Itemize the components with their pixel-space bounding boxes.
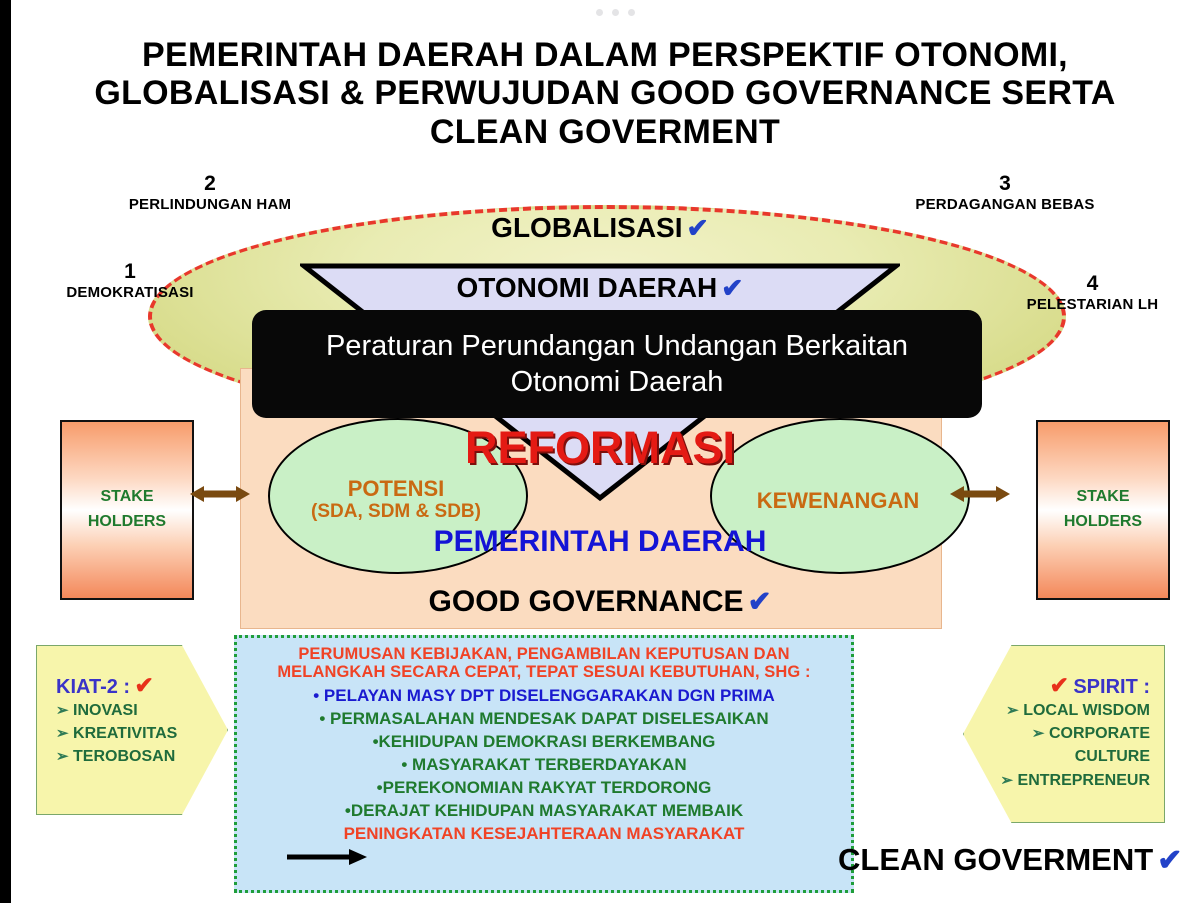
spirit-item-1-label: LOCAL WISDOM xyxy=(1023,702,1150,719)
check-icon-cleangov: ✔ xyxy=(1157,844,1182,877)
corner-label-1-number: 1 xyxy=(20,260,240,283)
spirit-item-3-label: CULTURE xyxy=(1075,748,1150,765)
stakeholders-left-label: STAKE HOLDERS xyxy=(88,485,166,535)
kiat-item-2-label: KREATIVITAS xyxy=(73,725,177,742)
dot-3 xyxy=(628,9,635,16)
stakeholders-box-left: STAKE HOLDERS xyxy=(60,420,194,600)
otonomi-daerah-text: OTONOMI DAERAH xyxy=(456,272,717,303)
pemerintah-daerah-label: PEMERINTAH DAERAH xyxy=(330,525,870,559)
spirit-title: SPIRIT : xyxy=(1073,676,1150,698)
corner-label-1-text: DEMOKRATISASI xyxy=(20,283,240,303)
kiat-item-1: ➢ INOVASI xyxy=(56,699,206,722)
potensi-label: POTENSI (SDA, SDM & SDB) xyxy=(268,476,524,523)
corner-label-4-number: 4 xyxy=(985,272,1200,295)
check-icon-otonomi: ✔ xyxy=(721,273,743,303)
spirit-item-4-label: ENTREPRENEUR xyxy=(1018,772,1150,789)
clean-government-label: CLEAN GOVERMENT✔ xyxy=(838,842,1182,878)
spirit-item-3: CULTURE xyxy=(985,745,1150,768)
reformasi-label: REFORMASI xyxy=(390,422,810,474)
kewenangan-label: KEWENANGAN xyxy=(710,488,966,513)
kewenangan-title: KEWENANGAN xyxy=(757,488,920,513)
slide-progress-dots xyxy=(596,9,635,16)
title-line-2: GLOBALISASI & PERWUJUDAN GOOD GOVERNANCE… xyxy=(50,74,1160,112)
outcomes-header-line1: PERUMUSAN KEBIJAKAN, PENGAMBILAN KEPUTUS… xyxy=(237,638,851,663)
bullet-arrow-icon-kiat-3: ➢ xyxy=(56,748,69,765)
corner-label-3-number: 3 xyxy=(905,172,1105,195)
stakeholders-right-label: STAKE HOLDERS xyxy=(1064,485,1142,535)
stakeholders-left-line1: STAKE xyxy=(100,488,153,505)
check-icon-goodgov: ✔ xyxy=(748,586,772,618)
globalisasi-label: GLOBALISASI✔ xyxy=(330,212,870,244)
spirit-content: ✔ SPIRIT : ➢ LOCAL WISDOM ➢ CORPORATE CU… xyxy=(985,672,1150,792)
double-arrow-icon-right xyxy=(950,482,1010,506)
spirit-item-2: ➢ CORPORATE xyxy=(985,722,1150,745)
dot-2 xyxy=(612,9,619,16)
good-governance-label: GOOD GOVERNANCE✔ xyxy=(330,585,870,619)
otonomi-daerah-label: OTONOMI DAERAH✔ xyxy=(330,272,870,304)
spirit-item-2-label: CORPORATE xyxy=(1049,725,1150,742)
check-icon-spirit: ✔ xyxy=(1050,672,1069,698)
kiat-item-2: ➢ KREATIVITAS xyxy=(56,722,206,745)
kiat-item-3: ➢ TEROBOSAN xyxy=(56,745,206,768)
good-governance-text: GOOD GOVERNANCE xyxy=(429,585,744,618)
bullet-arrow-icon-kiat-2: ➢ xyxy=(56,725,69,742)
bullet-arrow-icon-spirit-1: ➢ xyxy=(1006,702,1019,719)
corner-label-3-text: PERDAGANGAN BEBAS xyxy=(905,195,1105,215)
potensi-title: POTENSI xyxy=(348,476,445,501)
outcome-item-4: • MASYARAKAT TERBERDAYAKAN xyxy=(237,751,851,774)
dot-1 xyxy=(596,9,603,16)
outcome-item-3: •KEHIDUPAN DEMOKRASI BERKEMBANG xyxy=(237,728,851,751)
clean-government-text: CLEAN GOVERMENT xyxy=(838,842,1153,877)
bullet-arrow-icon-kiat-1: ➢ xyxy=(56,702,69,719)
bullet-arrow-icon-spirit-2: ➢ xyxy=(1032,725,1045,742)
outcome-item-5: •PEREKONOMIAN RAKYAT TERDORONG xyxy=(237,774,851,797)
kiat-item-1-label: INOVASI xyxy=(73,702,138,719)
tooltip-overlay[interactable]: Peraturan Perundangan Undangan Berkaitan… xyxy=(252,310,982,418)
check-icon-globalisasi: ✔ xyxy=(687,213,709,243)
stakeholders-right-line2: HOLDERS xyxy=(1064,513,1142,530)
title-line-1: PEMERINTAH DAERAH DALAM PERSPEKTIF OTONO… xyxy=(50,36,1160,74)
stakeholders-right-line1: STAKE xyxy=(1076,488,1129,505)
outcome-item-6: •DERAJAT KEHIDUPAN MASYARAKAT MEMBAIK xyxy=(237,797,851,820)
globalisasi-text: GLOBALISASI xyxy=(491,212,682,243)
stakeholders-left-line2: HOLDERS xyxy=(88,513,166,530)
outcome-item-7: PENINGKATAN KESEJAHTERAAN MASYARAKAT xyxy=(237,820,851,843)
corner-label-4: 4 PELESTARIAN LH xyxy=(985,272,1200,315)
spirit-item-4: ➢ ENTREPRENEUR xyxy=(985,769,1150,792)
bullet-arrow-icon-spirit-4: ➢ xyxy=(1001,772,1014,789)
tooltip-text: Peraturan Perundangan Undangan Berkaitan… xyxy=(252,328,982,401)
outcomes-header-line2: MELANGKAH SECARA CEPAT, TEPAT SESUAI KEB… xyxy=(237,663,851,681)
page-title: PEMERINTAH DAERAH DALAM PERSPEKTIF OTONO… xyxy=(50,36,1160,151)
kiat-title: KIAT-2 : xyxy=(56,676,130,698)
corner-label-2: 2 PERLINDUNGAN HAM xyxy=(110,172,310,215)
outcomes-header: PERUMUSAN KEBIJAKAN, PENGAMBILAN KEPUTUS… xyxy=(237,638,851,682)
corner-label-4-text: PELESTARIAN LH xyxy=(985,295,1200,315)
stakeholders-box-right: STAKE HOLDERS xyxy=(1036,420,1170,600)
outcome-item-2: • PERMASALAHAN MENDESAK DAPAT DISELESAIK… xyxy=(237,705,851,728)
outcome-item-1: • PELAYAN MASY DPT DISELENGGARAKAN DGN P… xyxy=(237,682,851,705)
right-arrow-icon xyxy=(287,846,367,868)
corner-label-2-number: 2 xyxy=(110,172,310,195)
check-icon-kiat: ✔ xyxy=(135,672,154,698)
double-arrow-icon-left xyxy=(190,482,250,506)
kiat-item-3-label: TEROBOSAN xyxy=(73,748,175,765)
spirit-title-row: ✔ SPIRIT : xyxy=(985,672,1150,699)
corner-label-1: 1 DEMOKRATISASI xyxy=(20,260,240,303)
potensi-subtitle: (SDA, SDM & SDB) xyxy=(268,501,524,523)
spirit-item-1: ➢ LOCAL WISDOM xyxy=(985,699,1150,722)
title-line-3: CLEAN GOVERMENT xyxy=(50,113,1160,151)
kiat-content: KIAT-2 : ✔ ➢ INOVASI ➢ KREATIVITAS ➢ TER… xyxy=(56,672,206,769)
corner-label-3: 3 PERDAGANGAN BEBAS xyxy=(905,172,1105,215)
slide-canvas: PEMERINTAH DAERAH DALAM PERSPEKTIF OTONO… xyxy=(0,0,1200,903)
left-edge-bar xyxy=(0,0,11,903)
kiat-title-row: KIAT-2 : ✔ xyxy=(56,672,206,699)
corner-label-2-text: PERLINDUNGAN HAM xyxy=(110,195,310,215)
